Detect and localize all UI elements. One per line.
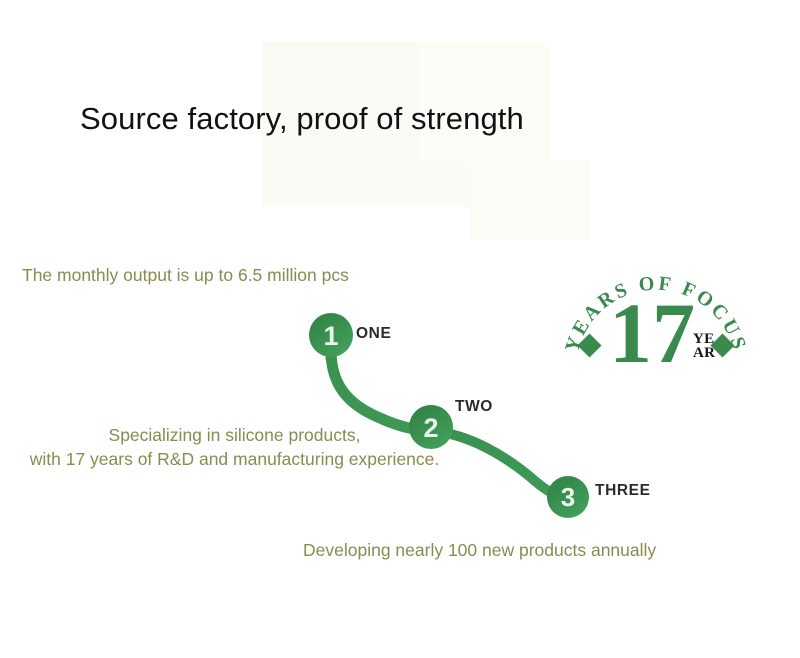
- step-marker-one[interactable]: 1: [309, 313, 353, 357]
- years-of-focus-badge: YEARS OF FOCUS 17: [556, 234, 756, 386]
- badge-year-word: YE AR: [693, 333, 727, 361]
- step-marker-three[interactable]: 3: [547, 476, 589, 518]
- badge-big-number: 17: [609, 285, 695, 381]
- infographic-page: Source factory, proof of strength The mo…: [0, 0, 800, 658]
- step-marker-two[interactable]: 2: [409, 405, 453, 449]
- step-number-two: 2: [423, 413, 438, 443]
- step-label-three: THREE: [595, 482, 651, 500]
- step-number-three: 3: [561, 482, 575, 512]
- step-label-two: TWO: [455, 398, 493, 416]
- badge-year-line-2: AR: [693, 347, 727, 361]
- connector-two-to-three: [432, 431, 566, 499]
- step-label-one: ONE: [356, 325, 391, 343]
- step-number-one: 1: [323, 321, 338, 351]
